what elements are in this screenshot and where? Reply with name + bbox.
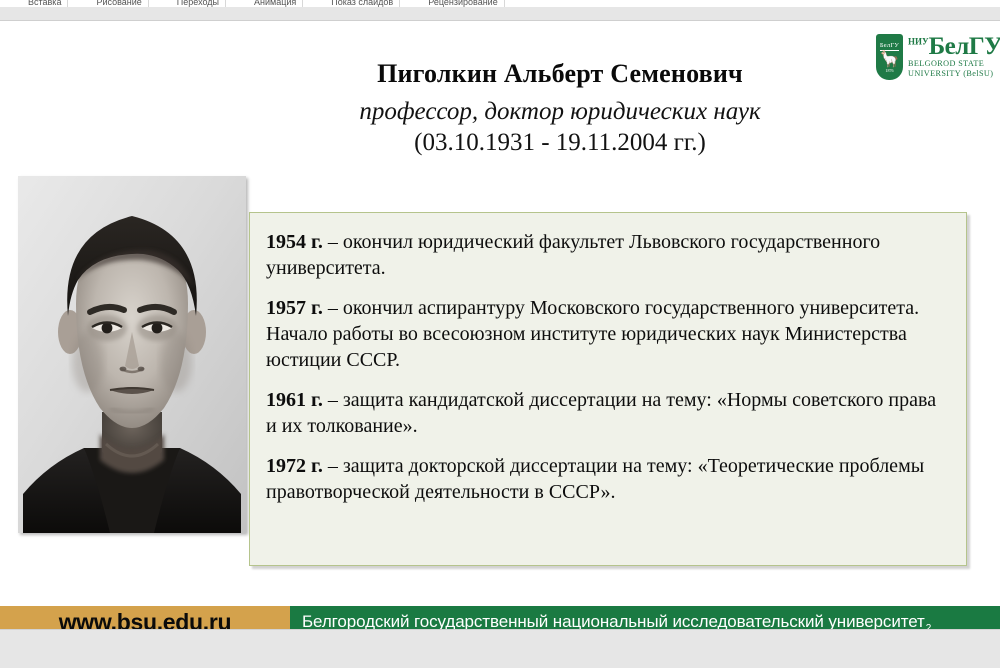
biography-box: 1954 г. – окончил юридический факультет …	[249, 212, 967, 566]
biography-year: 1957 г.	[266, 297, 323, 319]
toolbar-item-5[interactable]: Рецензирование	[422, 0, 505, 7]
lion-icon: 🦙	[880, 52, 900, 68]
subtitle-dates: (03.10.1931 - 19.11.2004 гг.)	[250, 128, 870, 159]
shield-year-label: 1876	[886, 69, 894, 73]
biography-paragraph: 1954 г. – окончил юридический факультет …	[266, 229, 950, 281]
app-toolbar-tabs: Вставка Рисование Переходы Анимация Пока…	[0, 0, 1000, 7]
biography-year: 1961 г.	[266, 389, 323, 411]
toolbar-item-0[interactable]: Вставка	[22, 0, 68, 7]
toolbar-item-2[interactable]: Переходы	[171, 0, 226, 7]
biography-text: – защита кандидатской диссертации на тем…	[266, 389, 936, 437]
logo-en-line2: UNIVERSITY (BelSU)	[908, 69, 1000, 79]
toolbar-item-3[interactable]: Анимация	[248, 0, 303, 7]
logo-en-line1: BELGOROD STATE	[908, 59, 1000, 69]
page-title: Пиголкин Альберт Семенович	[250, 59, 870, 90]
biography-year: 1954 г.	[266, 231, 323, 253]
slide-canvas: БелГУ 🦙 1876 НИУБелГУ BELGOROD STATE UNI…	[0, 21, 1000, 629]
shield-icon: БелГУ 🦙 1876	[876, 34, 903, 80]
portrait-photo	[18, 176, 246, 533]
logo-wordmark: НИУБелГУ BELGOROD STATE UNIVERSITY (BelS…	[908, 35, 1000, 79]
slide-title-block: Пиголкин Альберт Семенович профессор, до…	[250, 59, 870, 158]
toolbar-item-1[interactable]: Рисование	[90, 0, 148, 7]
biography-paragraph: 1972 г. – защита докторской диссертации …	[266, 453, 950, 505]
belsu-logo: БелГУ 🦙 1876 НИУБелГУ BELGOROD STATE UNI…	[876, 30, 994, 84]
logo-ru-text: НИУБелГУ	[908, 35, 1000, 59]
subtitle-role: профессор, доктор юридических наук	[250, 96, 870, 127]
biography-paragraph: 1957 г. – окончил аспирантуру Московског…	[266, 295, 950, 373]
toolbar-item-4[interactable]: Показ слайдов	[325, 0, 400, 7]
biography-year: 1972 г.	[266, 455, 323, 477]
biography-paragraph: 1961 г. – защита кандидатской диссертаци…	[266, 387, 950, 439]
shield-top-label: БелГУ	[880, 43, 899, 52]
biography-text: – окончил аспирантуру Московского госуда…	[266, 297, 919, 371]
app-toolbar: Вставка Рисование Переходы Анимация Пока…	[0, 0, 1000, 7]
biography-text: – защита докторской диссертации на тему:…	[266, 455, 924, 503]
logo-ru-main: БелГУ	[929, 33, 1000, 60]
app-bottom-chrome	[0, 629, 1000, 668]
portrait-image	[18, 176, 246, 533]
biography-text: – окончил юридический факультет Львовско…	[266, 231, 880, 279]
logo-sup-niu: НИУ	[908, 37, 929, 47]
app-toolbar-band	[0, 7, 1000, 21]
